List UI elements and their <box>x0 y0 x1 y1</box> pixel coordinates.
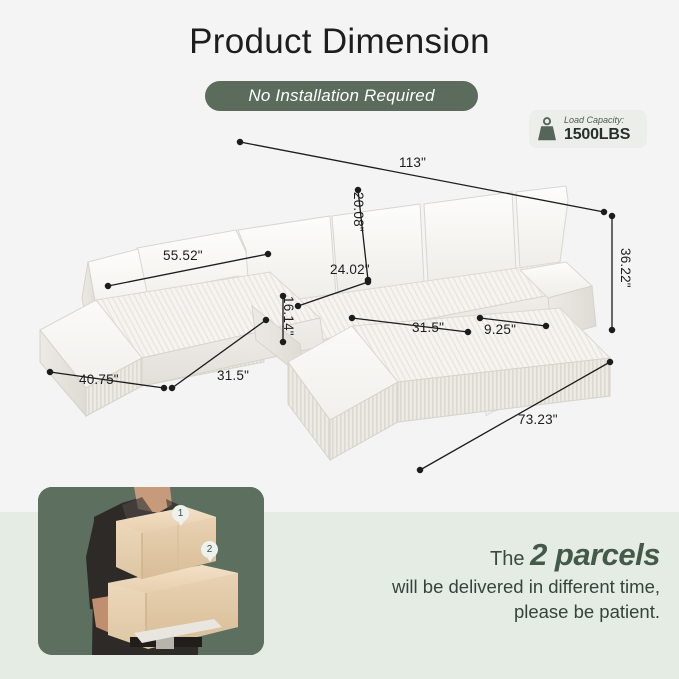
dimension-label-overall-width: 113" <box>399 155 426 170</box>
dimension-label-chaise-width: 40.75" <box>79 372 119 387</box>
delivery-photo <box>38 487 264 655</box>
shipping-message-line1: The 2 parcels <box>300 538 660 572</box>
shipping-message-highlight: 2 parcels <box>530 537 660 572</box>
dimension-label-back-height: 20.08" <box>351 192 366 232</box>
dimension-label-ottoman-width: 31.5" <box>412 320 444 335</box>
dimension-label-armrest-width: 9.25" <box>484 322 516 337</box>
parcel-badge-2: 2 <box>201 541 218 558</box>
load-capacity-label: Load Capacity: <box>564 116 630 125</box>
dimension-label-seat-depth: 24.02" <box>330 262 370 277</box>
shipping-message-prefix: The <box>490 548 524 570</box>
no-installation-badge: No Installation Required <box>205 81 478 111</box>
page-title: Product Dimension <box>0 22 679 62</box>
dimension-label-overall-height: 36.22" <box>618 248 633 288</box>
dimension-label-overall-depth: 73.23" <box>518 412 558 427</box>
shipping-message: The 2 parcels will be delivered in diffe… <box>300 538 660 625</box>
dimension-label-chaise-depth: 31.5" <box>217 368 249 383</box>
sofa-illustration <box>0 130 679 475</box>
parcel-badge-1: 1 <box>172 505 189 522</box>
shipping-message-line2: will be delivered in different time, <box>300 575 660 600</box>
dimension-label-chaise-length: 55.52" <box>163 248 203 263</box>
product-dimension-infographic: Product Dimension No Installation Requir… <box>0 0 679 679</box>
dimension-label-seat-height: 16.14" <box>281 296 296 336</box>
delivery-photo-illustration <box>38 487 264 655</box>
shipping-message-line3: please be patient. <box>300 600 660 625</box>
